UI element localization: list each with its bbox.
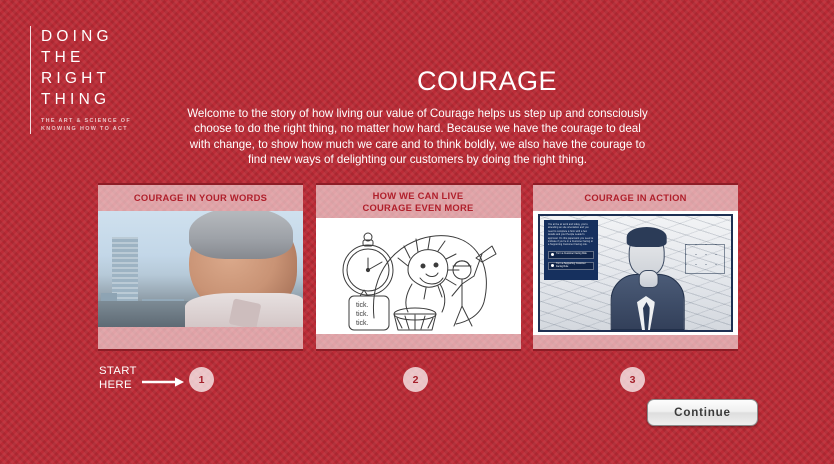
card-courage-in-your-words[interactable]: COURAGE IN YOUR WORDS (98, 183, 303, 351)
step-circle-1[interactable]: 1 (189, 367, 214, 392)
card-2-heading-line-2: COURAGE EVEN MORE (362, 202, 473, 214)
tick-caption-2: tick. (356, 311, 369, 318)
card-2-footer (316, 334, 521, 348)
lion-tamer-illustration: tick. tick. tick. (316, 218, 521, 334)
man-hair (189, 211, 293, 259)
start-here-line-1: START (99, 365, 137, 379)
continue-button[interactable]: Continue (647, 399, 758, 426)
logo-tagline-1: THE ART & SCIENCE OF (41, 117, 131, 125)
card-how-we-can-live-courage-even-more[interactable]: HOW WE CAN LIVE COURAGE EVEN MORE (316, 183, 521, 351)
man-collar (229, 298, 262, 327)
slide-background: DOING THE RIGHT THING THE ART & SCIENCE … (0, 0, 834, 464)
intro-paragraph: Welcome to the story of how living our v… (185, 106, 650, 168)
start-here-label: START HERE (99, 365, 137, 392)
card-row: COURAGE IN YOUR WORDS (98, 183, 738, 351)
card-3-media[interactable]: You arrive at work and today, you're att… (533, 211, 738, 335)
radio-icon (551, 253, 554, 256)
card-1-footer (98, 327, 303, 341)
card-courage-in-action[interactable]: COURAGE IN ACTION (533, 183, 738, 351)
card-1-heading: COURAGE IN YOUR WORDS (98, 185, 303, 211)
card-2-heading-line-1: HOW WE CAN LIVE (362, 190, 473, 202)
sketch-man (599, 226, 695, 330)
sketch-man-hair (627, 227, 667, 247)
arrow-right-icon (142, 377, 184, 387)
card-2-heading: HOW WE CAN LIVE COURAGE EVEN MORE (316, 185, 521, 218)
card-3-heading: COURAGE IN ACTION (533, 185, 738, 211)
scenario-panel-text: You arrive at work and today, you're att… (548, 224, 594, 248)
card-1-media[interactable] (98, 211, 303, 327)
logo-tagline-2: KNOWING HOW TO ACT (41, 125, 131, 133)
photo-man-skyline (98, 211, 303, 327)
logo-line-4: THING (41, 89, 131, 110)
drawing-lion-tamer: tick. tick. tick. (316, 218, 521, 334)
step-circle-3[interactable]: 3 (620, 367, 645, 392)
sketch-scene-wrapper: You arrive at work and today, you're att… (533, 211, 738, 335)
page-title: COURAGE (160, 66, 814, 97)
scenario-panel: You arrive at work and today, you're att… (544, 220, 598, 280)
logo-line-1: DOING (41, 26, 131, 47)
sketch-man-hand (639, 270, 659, 288)
logo-line-2: THE (41, 47, 131, 68)
sketch-scene-frame: You arrive at work and today, you're att… (538, 214, 733, 332)
start-here-line-2: HERE (99, 379, 137, 393)
logo-line-3: RIGHT (41, 68, 131, 89)
scenario-option-1[interactable]: I'm in a Customer Facing Role (548, 251, 594, 259)
scenario-option-2-label: I'm in a Supporting Customer Facing Role (556, 263, 593, 269)
radio-icon (551, 264, 554, 267)
card-2-media[interactable]: tick. tick. tick. (316, 218, 521, 334)
card-3-footer (533, 335, 738, 349)
step-circle-2[interactable]: 2 (403, 367, 428, 392)
tick-caption-1: tick. (356, 302, 369, 309)
tick-caption-3: tick. (356, 320, 369, 327)
brand-logo: DOING THE RIGHT THING THE ART & SCIENCE … (30, 26, 131, 134)
scenario-option-1-label: I'm in a Customer Facing Role (556, 253, 587, 256)
scenario-option-2[interactable]: I'm in a Supporting Customer Facing Role (548, 262, 594, 270)
